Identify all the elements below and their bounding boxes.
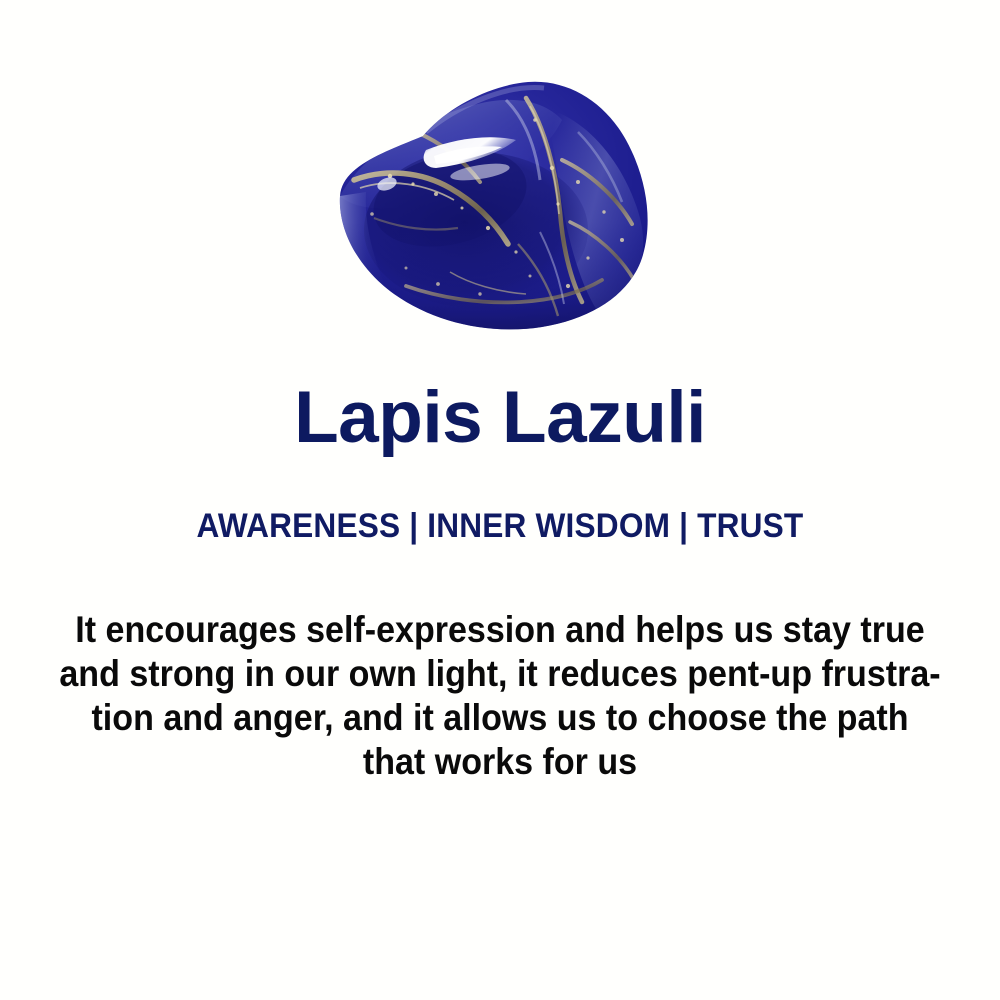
description-line-4: that works for us (58, 740, 941, 784)
gemstone-keywords: AWARENESS | INNER WISDOM | TRUST (35, 506, 965, 546)
description-line-2: and strong in our own light, it reduces … (58, 652, 941, 696)
gemstone-text-block: Lapis Lazuli AWARENESS | INNER WISDOM | … (0, 372, 1000, 784)
gemstone-image (0, 72, 1000, 362)
page-title: Lapis Lazuli (0, 378, 1000, 458)
description-line-3: tion and anger, and it allows us to choo… (58, 696, 941, 740)
gemstone-info-card: Lapis Lazuli AWARENESS | INNER WISDOM | … (0, 0, 1000, 1000)
stone-body (330, 72, 670, 342)
gemstone-description: It encourages self-expression and helps … (58, 608, 941, 784)
lapis-lazuli-stone-illustration (330, 72, 670, 342)
shading-bottom (330, 222, 670, 342)
description-line-1: It encourages self-expression and helps … (58, 608, 941, 652)
